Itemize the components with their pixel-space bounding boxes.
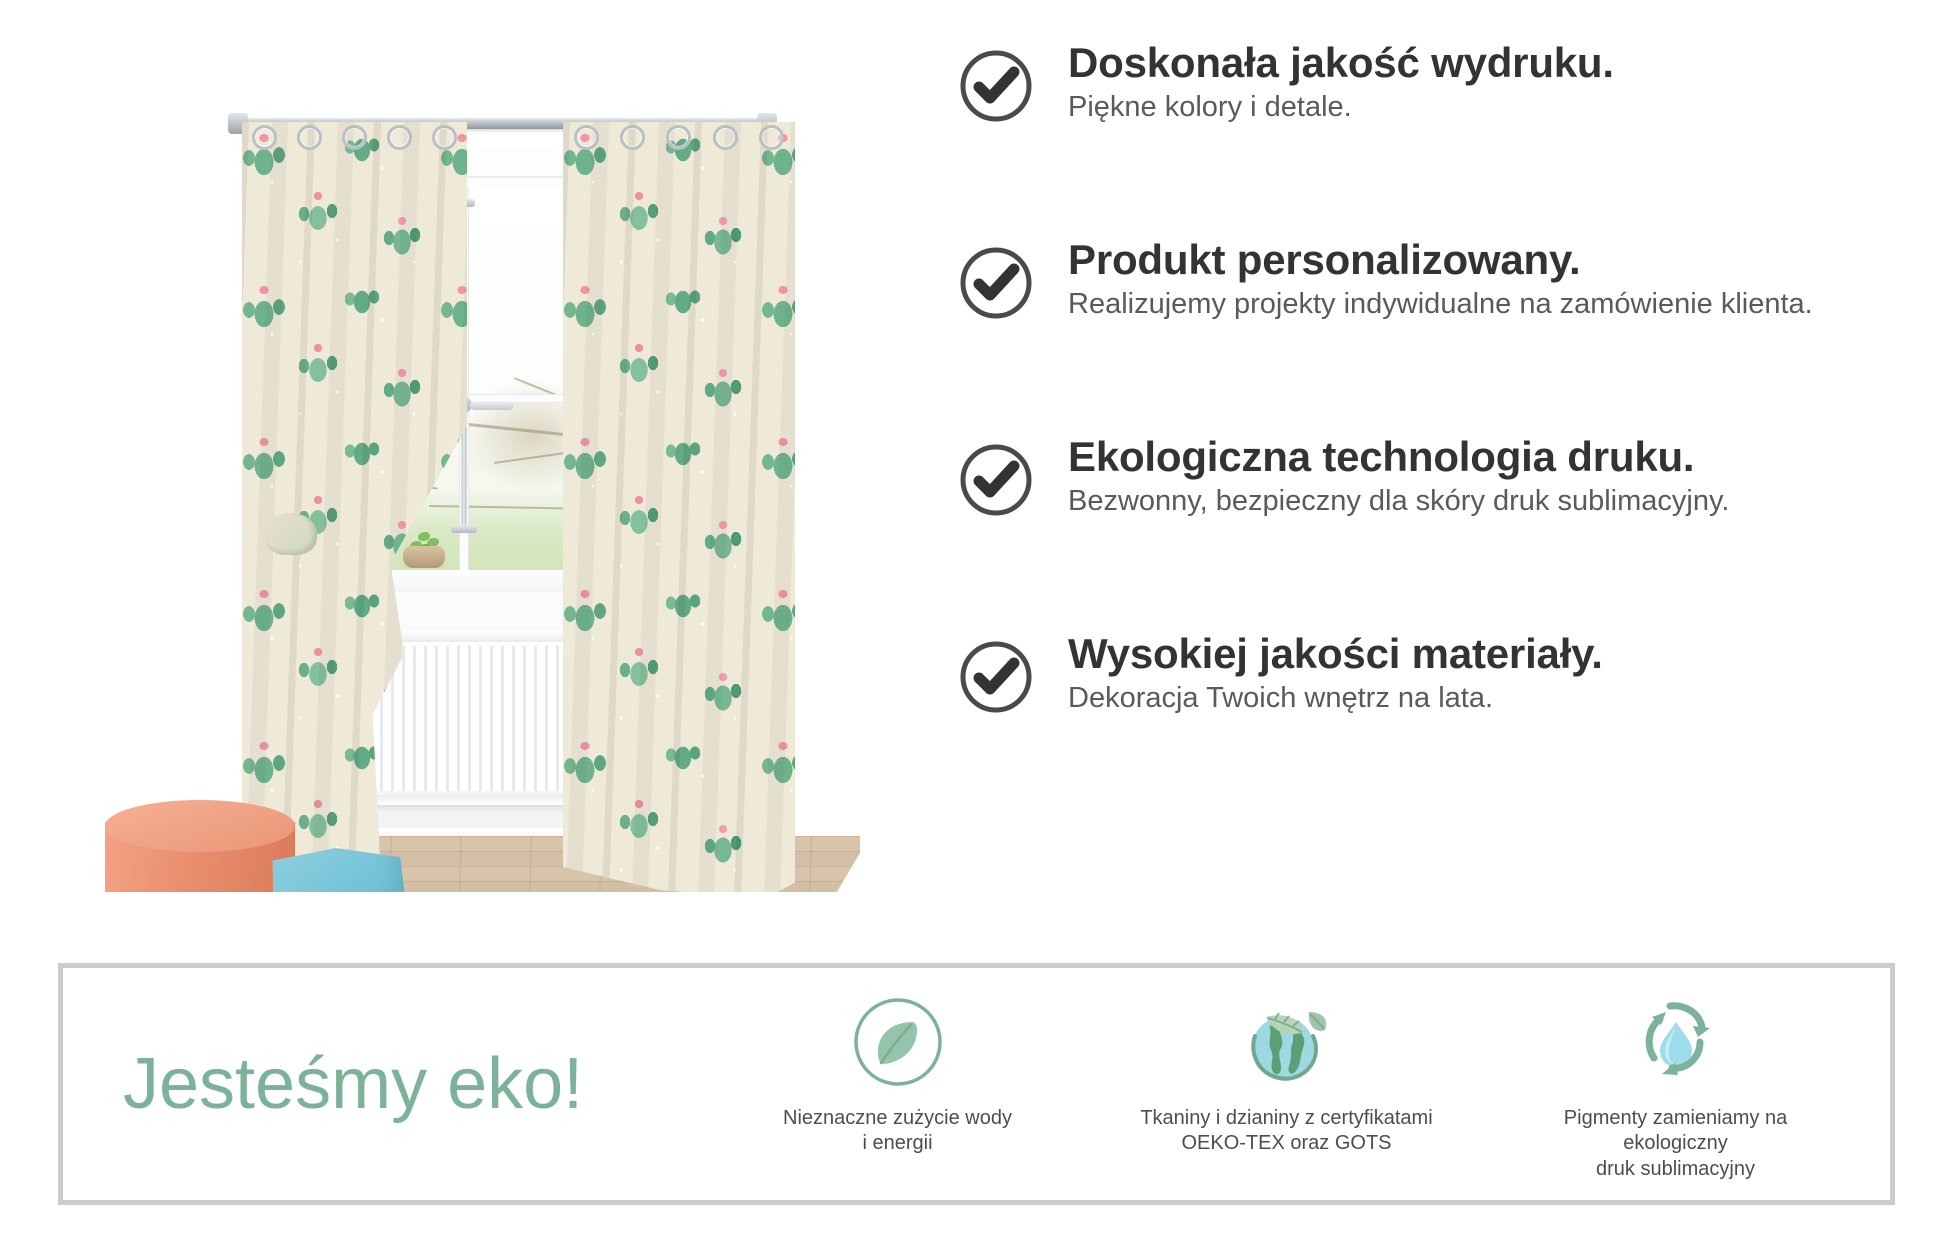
grommet-icon [620, 125, 645, 150]
feature-subtitle: Realizujemy projekty indywidualne na zam… [1068, 288, 1928, 321]
feature-subtitle: Bezwonny, bezpieczny dla skóry druk subl… [1068, 485, 1928, 518]
eco-item-caption: Nieznaczne zużycie wody i energii [783, 1106, 1012, 1157]
water-drop-recycle-icon [1626, 986, 1726, 1098]
feature-title: Wysokiej jakości materiały. [1068, 631, 1928, 676]
feature-item: Produkt personalizowany. Realizujemy pro… [958, 237, 1938, 434]
feature-title: Ekologiczna technologia druku. [1068, 434, 1928, 479]
feature-text: Doskonała jakość wydruku. Piękne kolory … [1068, 40, 1928, 125]
right-curtain-panel [563, 122, 795, 892]
plant-pot-right [403, 546, 445, 568]
grommet-icon [666, 125, 691, 150]
page-root: Doskonała jakość wydruku. Piękne kolory … [0, 0, 1956, 1244]
grommet-icon [432, 125, 457, 150]
grommet-icon [297, 125, 322, 150]
feature-list: Doskonała jakość wydruku. Piękne kolory … [958, 40, 1938, 828]
feature-item: Wysokiej jakości materiały. Dekoracja Tw… [958, 631, 1938, 828]
grommet-icon [342, 125, 367, 150]
feature-title: Doskonała jakość wydruku. [1068, 40, 1928, 85]
product-photo [55, 30, 860, 892]
globe-with-leaves-icon [1231, 986, 1343, 1098]
feature-text: Produkt personalizowany. Realizujemy pro… [1068, 237, 1928, 322]
grommet-icon [252, 125, 277, 150]
eco-item: Nieznaczne zużycie wody i energii [733, 986, 1063, 1157]
eco-banner: Jesteśmy eko! Nieznaczne zużycie wody i … [58, 963, 1895, 1205]
feature-subtitle: Piękne kolory i detale. [1068, 91, 1928, 124]
eco-item: Tkaniny i dzianiny z certyfikatami OEKO-… [1122, 986, 1452, 1157]
feature-title: Produkt personalizowany. [1068, 237, 1928, 282]
feature-item: Ekologiczna technologia druku. Bezwonny,… [958, 434, 1938, 631]
eco-item: Pigmenty zamieniamy na ekologiczny druk … [1511, 986, 1841, 1183]
curtain-tieback-left [265, 513, 317, 555]
feature-text: Ekologiczna technologia druku. Bezwonny,… [1068, 434, 1928, 519]
grommet-icon [387, 125, 412, 150]
eco-item-caption: Pigmenty zamieniamy na ekologiczny druk … [1511, 1106, 1841, 1183]
eco-banner-title: Jesteśmy eko! [63, 1048, 703, 1120]
salmon-pouf [105, 800, 295, 892]
leaf-in-circle-icon [850, 986, 946, 1098]
window-handle-lever [470, 401, 514, 410]
eco-item-list: Nieznaczne zużycie wody i energii [703, 986, 1890, 1183]
check-circle-icon [958, 442, 1034, 518]
check-circle-icon [958, 48, 1034, 124]
grommet-icon [713, 125, 738, 150]
grommet-row-right [563, 126, 795, 148]
feature-text: Wysokiej jakości materiały. Dekoracja Tw… [1068, 631, 1928, 716]
feature-item: Doskonała jakość wydruku. Piękne kolory … [958, 40, 1938, 237]
eco-item-caption: Tkaniny i dzianiny z certyfikatami OEKO-… [1140, 1106, 1432, 1157]
check-circle-icon [958, 639, 1034, 715]
check-circle-icon [958, 245, 1034, 321]
window-handle-bottom-cap [451, 525, 477, 533]
grommet-icon [574, 125, 599, 150]
room-scene [145, 58, 765, 888]
curtain-folds-right [563, 122, 795, 892]
feature-subtitle: Dekoracja Twoich wnętrz na lata. [1068, 682, 1928, 715]
grommet-row-left [242, 126, 467, 148]
grommet-icon [759, 125, 784, 150]
potted-plant-right [403, 534, 445, 568]
